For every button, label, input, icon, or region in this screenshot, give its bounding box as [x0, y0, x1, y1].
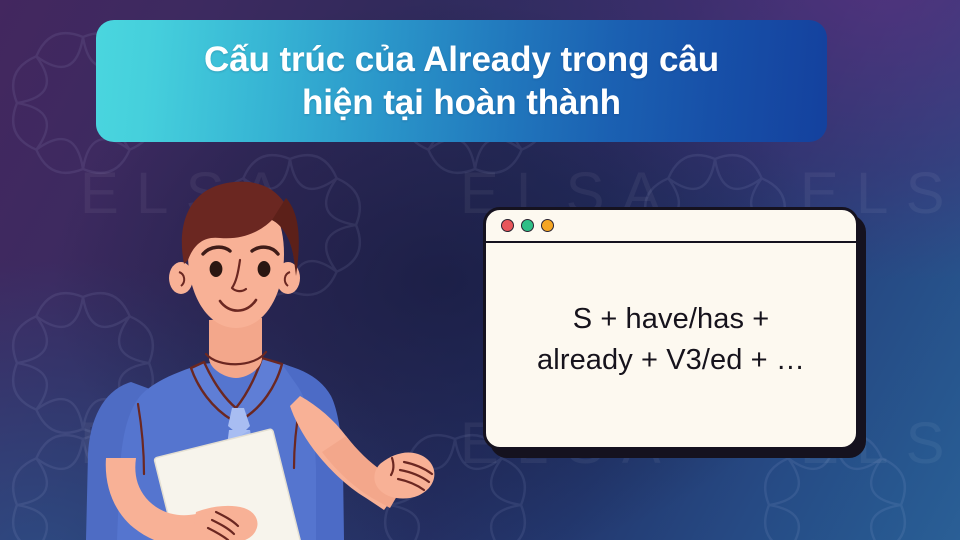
page-title: Cấu trúc của Already trong câu hiện tại …	[204, 38, 719, 125]
formula-card: S + have/has + already + V3/ed + …	[483, 207, 859, 450]
formula-line-1: S + have/has +	[537, 299, 805, 340]
card-title-bar	[486, 210, 856, 243]
slide-canvas: ELSAELSAELSAELSAELSAELSA Cấu trúc của Al…	[0, 0, 960, 540]
title-line-1: Cấu trúc của Already trong câu	[204, 38, 719, 81]
maximize-dot-icon[interactable]	[541, 219, 554, 232]
grammar-formula: S + have/has + already + V3/ed + …	[537, 299, 805, 381]
close-dot-icon[interactable]	[501, 219, 514, 232]
title-banner: Cấu trúc của Already trong câu hiện tại …	[96, 20, 827, 142]
card-body: S + have/has + already + V3/ed + …	[486, 243, 856, 447]
title-line-2: hiện tại hoàn thành	[204, 81, 719, 124]
formula-line-2: already + V3/ed + …	[537, 340, 805, 381]
illustration-man-presenting	[84, 168, 474, 540]
minimize-dot-icon[interactable]	[521, 219, 534, 232]
